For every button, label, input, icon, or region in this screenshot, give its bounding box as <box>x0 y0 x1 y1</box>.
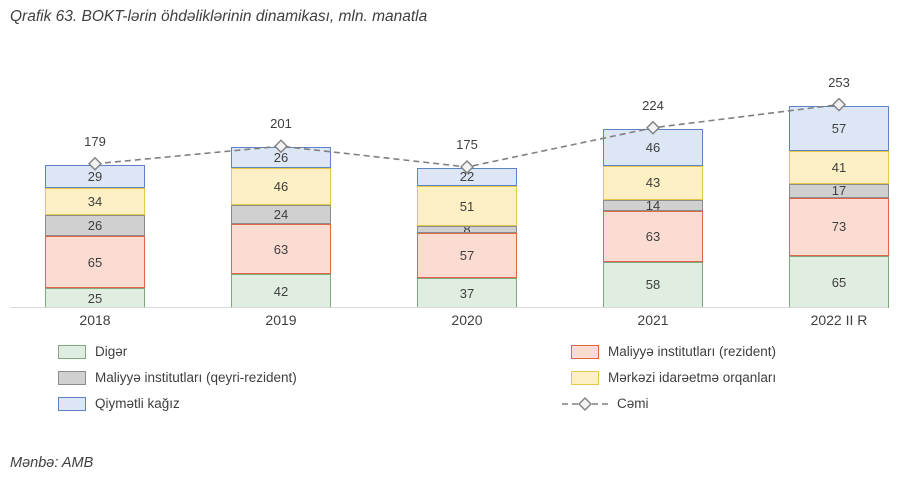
bar-segment-value: 46 <box>274 180 288 193</box>
bar-segment: 41 <box>789 151 889 184</box>
bar-group: 5863144346 <box>603 129 703 308</box>
bar-segment: 57 <box>417 233 517 279</box>
legend-label: Maliyyə institutları (rezident) <box>608 344 776 359</box>
bar-segment: 26 <box>45 215 145 236</box>
legend-swatch <box>571 345 599 359</box>
bar-segment-value: 65 <box>88 256 102 269</box>
bar-segment: 57 <box>789 106 889 152</box>
x-axis-line <box>10 307 888 308</box>
bar-segment: 46 <box>603 129 703 166</box>
page-title: Qrafik 63. BOKT-lərin öhdəliklərinin din… <box>10 8 427 26</box>
bar-segment-value: 14 <box>646 200 660 211</box>
total-value-label: 253 <box>789 75 889 90</box>
legend-item-total[interactable]: Cəmi <box>562 396 649 411</box>
bar-segment-value: 63 <box>274 243 288 256</box>
bar-group: 6573174157 <box>789 106 889 308</box>
bar-group: 375785122 <box>417 168 517 308</box>
bar-segment-value: 24 <box>274 208 288 221</box>
bar-group: 4263244626 <box>231 147 331 308</box>
legend-item[interactable]: Digər <box>58 344 127 359</box>
legend-item[interactable]: Qiymətli kağız <box>58 396 180 411</box>
source-note: Mənbə: AMB <box>10 455 93 471</box>
bar-segment-value: 25 <box>88 292 102 305</box>
legend-item[interactable]: Maliyyə institutları (rezident) <box>571 344 776 359</box>
chart-legend: DigərMaliyyə institutları (rezident)Mali… <box>0 342 903 418</box>
bar-segment: 73 <box>789 198 889 256</box>
bar-segment: 24 <box>231 205 331 224</box>
bar-segment-value: 34 <box>88 195 102 208</box>
bar-segment-value: 22 <box>460 170 474 183</box>
bar-segment-value: 17 <box>832 184 846 197</box>
bar-segment: 26 <box>231 147 331 168</box>
bar-segment-value: 41 <box>832 161 846 174</box>
bar-segment-value: 26 <box>274 151 288 164</box>
legend-item[interactable]: Mərkəzi idarəetmə orqanları <box>571 370 776 385</box>
x-axis-label: 2018 <box>30 312 160 328</box>
x-axis-label: 2021 <box>588 312 718 328</box>
bar-segment: 65 <box>45 236 145 288</box>
bar-segment: 58 <box>603 262 703 308</box>
legend-swatch <box>58 345 86 359</box>
bar-segment: 22 <box>417 168 517 186</box>
bar-segment-value: 57 <box>460 249 474 262</box>
bar-segment-value: 63 <box>646 230 660 243</box>
bar-segment-value: 37 <box>460 287 474 300</box>
legend-label: Maliyyə institutları (qeyri-rezident) <box>95 370 297 385</box>
total-value-label: 201 <box>231 116 331 131</box>
bar-segment: 65 <box>789 256 889 308</box>
bar-segment-value: 29 <box>88 170 102 183</box>
bar-segment-value: 57 <box>832 122 846 135</box>
legend-label: Digər <box>95 344 127 359</box>
bar-segment: 29 <box>45 165 145 188</box>
legend-swatch <box>58 371 86 385</box>
bar-segment: 46 <box>231 168 331 205</box>
legend-swatch <box>58 397 86 411</box>
bar-groups: 2565263429426324462637578512258631443466… <box>0 50 903 308</box>
total-value-label: 175 <box>417 137 517 152</box>
legend-label: Qiymətli kağız <box>95 396 180 411</box>
bar-segment: 14 <box>603 200 703 211</box>
x-axis-label: 2019 <box>216 312 346 328</box>
bar-segment-value: 73 <box>832 220 846 233</box>
bar-segment-value: 51 <box>460 200 474 213</box>
bar-group: 2565263429 <box>45 165 145 308</box>
bar-segment: 63 <box>603 211 703 261</box>
x-axis-tick-labels: 20182019202020212022 II R <box>0 312 903 338</box>
legend-line-marker-icon <box>562 397 608 411</box>
legend-label: Mərkəzi idarəetmə orqanları <box>608 370 776 385</box>
bar-segment: 37 <box>417 278 517 308</box>
x-axis-label: 2022 II R <box>774 312 903 328</box>
bar-segment: 17 <box>789 184 889 198</box>
bar-segment: 51 <box>417 186 517 227</box>
bar-segment: 43 <box>603 166 703 200</box>
chart-plot-area: 2565263429426324462637578512258631443466… <box>0 50 903 308</box>
x-axis-label: 2020 <box>402 312 532 328</box>
total-value-label: 224 <box>603 98 703 113</box>
bar-segment: 63 <box>231 224 331 274</box>
legend-swatch <box>571 371 599 385</box>
bar-segment-value: 26 <box>88 219 102 232</box>
bar-segment-value: 58 <box>646 278 660 291</box>
legend-label: Cəmi <box>617 396 649 411</box>
bar-segment-value: 46 <box>646 141 660 154</box>
bar-segment: 42 <box>231 274 331 308</box>
bar-segment-value: 65 <box>832 276 846 289</box>
bar-segment: 25 <box>45 288 145 308</box>
total-value-label: 179 <box>45 134 145 149</box>
legend-item[interactable]: Maliyyə institutları (qeyri-rezident) <box>58 370 297 385</box>
bar-segment: 34 <box>45 188 145 215</box>
bar-segment-value: 42 <box>274 285 288 298</box>
bar-segment-value: 43 <box>646 176 660 189</box>
